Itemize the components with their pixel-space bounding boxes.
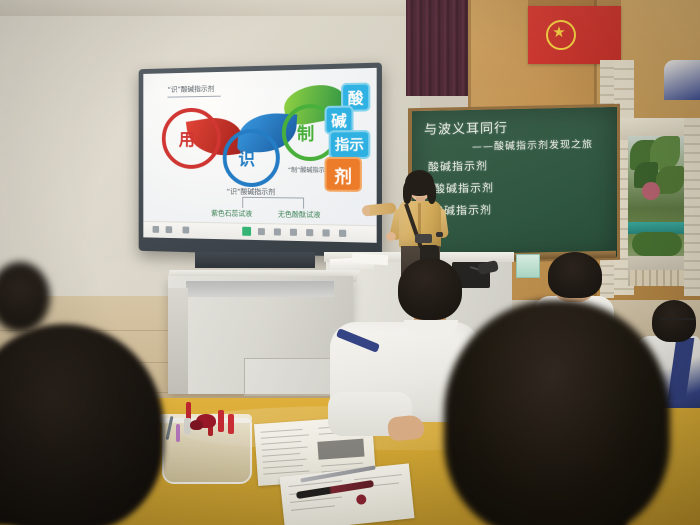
undo-icon[interactable] [322,229,329,236]
student-center-hand [387,414,425,442]
branch-connector [242,197,304,209]
student-shoulder-upper-right [664,60,700,100]
board-subtitle: ——酸碱指示剂发现之旅 [472,135,593,153]
slide-toolbar[interactable] [143,221,376,243]
underline [167,96,220,98]
board-note-1: 酸碱指示剂 [428,158,488,175]
eraser-icon[interactable] [274,228,281,235]
polo-collar [404,320,458,336]
window-view [628,136,686,286]
line-icon[interactable] [306,229,313,236]
slide-branch-left: 紫色石蕊试液 [211,208,252,219]
presentation-slide: “识”酸碱指示剂 用 识 制 “识”酸碱指示剂 “制”酸碱指示剂 紫色石蕊试液 [143,68,376,243]
teacher-hair-left [403,182,412,204]
shape-icon[interactable] [290,229,297,236]
eyeglasses [661,318,694,327]
interactive-smartboard[interactable]: “识”酸碱指示剂 用 识 制 “识”酸碱指示剂 “制”酸碱指示剂 紫色石蕊试液 [139,63,382,258]
settings-icon[interactable] [183,227,190,234]
youth-league-flag: ★ [528,6,621,64]
student-back-head [548,252,602,298]
stage-curtain [406,0,472,96]
highlighter-icon[interactable] [258,228,265,235]
wristwatch [436,232,443,237]
slide-branch-right: 无色酚酞试液 [278,209,321,220]
bench-side-panel [168,288,188,394]
smartboard-stand [195,252,315,268]
slide-heading: “识”酸碱指示剂 [167,84,214,95]
board-note-2: 酸碱指示剂 [434,179,494,196]
planter-box [630,270,684,286]
hedge [632,232,682,256]
bench-access-panel [244,358,332,396]
page-icon[interactable] [166,226,173,233]
star-glyph: ★ [552,26,566,40]
pink-shrub [642,182,660,200]
star-in-circle-icon: ★ [546,20,576,50]
dropper-bulb [218,410,224,432]
student-center-head [398,258,462,320]
teacher-hand [386,232,396,241]
green-tray [516,254,540,278]
dropper-bulb [228,414,234,434]
classroom-photo: ★ 与波义耳同行 ——酸碱指示剂发现之旅 酸碱指示剂 酸碱指示剂 酸碱指示剂 “… [0,0,700,525]
grid-icon[interactable] [153,226,160,233]
purple-reagent [176,424,180,442]
ring-blue: 识 [223,129,280,187]
red-flower [190,420,203,430]
slide-label-blue: “识”酸碱指示剂 [227,187,276,197]
stack-box-2: 指示 [329,130,371,159]
stack-box-3: 剂 [325,157,362,192]
more-icon[interactable] [339,230,346,237]
remote-clicker [415,234,432,243]
foliage [656,166,684,194]
tiled-pillar [684,118,700,296]
pen-icon[interactable] [242,227,251,236]
bench-basin [186,281,334,297]
foreground-head-center [444,300,670,525]
board-title: 与波义耳同行 [424,117,508,138]
ring-char-1: 识 [238,145,255,170]
teacher-hair-right [427,182,436,204]
ring-char-2: 制 [297,119,314,145]
smartboard-screen[interactable]: “识”酸碱指示剂 用 识 制 “识”酸碱指示剂 “制”酸碱指示剂 紫色石蕊试液 [143,68,376,243]
ring-char-0: 用 [179,126,195,151]
ring-red: 用 [162,108,221,169]
